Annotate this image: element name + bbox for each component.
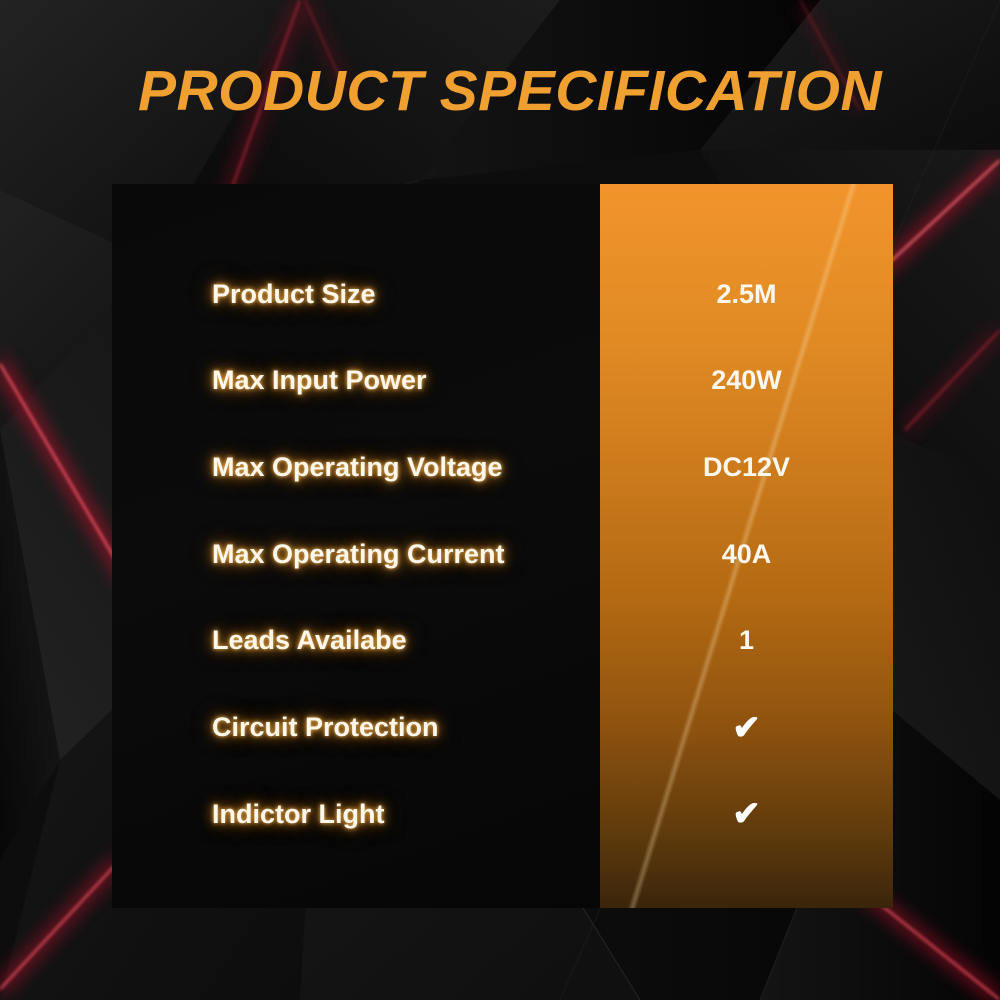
spec-value: DC12V xyxy=(600,452,893,483)
spec-value-check-icon: ✔ xyxy=(600,797,893,831)
table-row: Product Size2.5M xyxy=(0,270,1000,318)
spec-value: 40A xyxy=(600,539,893,570)
product-specification-poster: PRODUCT SPECIFICATION Product Size2.5MMa… xyxy=(0,0,1000,1000)
table-row: Indictor Light✔ xyxy=(0,790,1000,838)
spec-label: Max Operating Voltage xyxy=(212,452,503,483)
spec-label: Max Operating Current xyxy=(212,539,505,570)
table-row: Max Operating VoltageDC12V xyxy=(0,443,1000,491)
specification-table: Product Size2.5MMax Input Power240WMax O… xyxy=(0,184,1000,908)
spec-value-check-icon: ✔ xyxy=(600,711,893,745)
spec-value: 2.5M xyxy=(600,279,893,310)
table-row: Max Operating Current40A xyxy=(0,530,1000,578)
spec-label: Product Size xyxy=(212,279,376,310)
spec-label: Leads Availabe xyxy=(212,625,407,656)
spec-label: Circuit Protection xyxy=(212,712,439,743)
spec-value: 240W xyxy=(600,365,893,396)
spec-label: Max Input Power xyxy=(212,365,427,396)
spec-value: 1 xyxy=(600,625,893,656)
table-row: Circuit Protection✔ xyxy=(0,704,1000,752)
table-row: Max Input Power240W xyxy=(0,357,1000,405)
page-title: PRODUCT SPECIFICATION xyxy=(138,58,882,124)
table-row: Leads Availabe1 xyxy=(0,617,1000,665)
spec-label: Indictor Light xyxy=(212,799,384,830)
